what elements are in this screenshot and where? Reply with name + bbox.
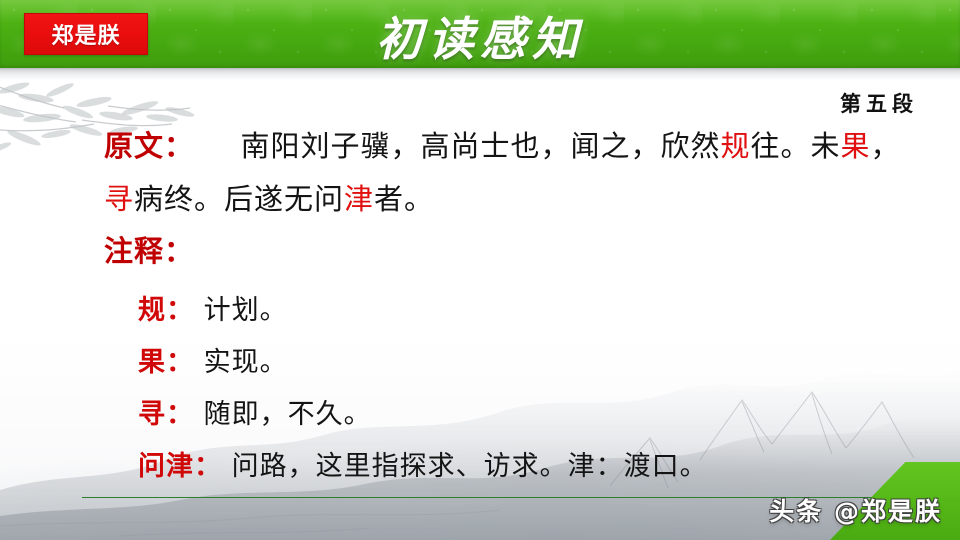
note-item: 寻： 随即，不久。 — [138, 392, 372, 431]
notes-heading: 注释： — [104, 228, 194, 270]
passage-line-2: 寻病终。后遂无问津者。 — [104, 173, 434, 226]
passage-line-1-runs: 南阳刘子骥，高尚士也，闻之，欣然规往。未果， — [240, 129, 900, 163]
passage-label: 原文： — [104, 129, 194, 163]
note-definition: 问路，这里指探求、访求。津：渡口。 — [232, 451, 708, 482]
section-label: 第五段 — [840, 88, 918, 118]
note-definition: 实现。 — [204, 347, 288, 378]
note-term: 果： — [138, 347, 194, 378]
note-item: 果： 实现。 — [138, 340, 288, 379]
highlighted-char: 津 — [344, 182, 374, 216]
note-definition: 计划。 — [204, 295, 288, 326]
note-term: 寻： — [138, 399, 194, 430]
note-item: 规： 计划。 — [138, 288, 288, 327]
note-term: 规： — [138, 295, 194, 326]
passage-text: ， — [871, 129, 901, 163]
highlighted-char: 果 — [841, 129, 871, 163]
header-bevel-strip — [0, 68, 960, 81]
note-definition: 随即，不久。 — [204, 399, 372, 430]
passage-text: 往。未 — [750, 129, 840, 163]
highlighted-char: 寻 — [104, 182, 134, 216]
note-term: 问津： — [138, 451, 222, 482]
passage-line-1: 原文： 南阳刘子骥，高尚士也，闻之，欣然规往。未果， — [104, 120, 901, 173]
passage-text: 病终。后遂无问 — [134, 182, 344, 216]
passage-text: 南阳刘子骥，高尚士也，闻之，欣然 — [240, 129, 720, 163]
passage-line-2-runs: 寻病终。后遂无问津者。 — [104, 182, 434, 216]
note-item: 问津： 问路，这里指探求、访求。津：渡口。 — [138, 444, 708, 483]
watermark: 头条 @郑是朕 — [769, 492, 942, 528]
slide-canvas: 郑是朕 初读感知 第五段 原文： 南阳刘子骥，高尚士也，闻之，欣然规往。未果， … — [0, 0, 960, 540]
bottom-divider — [82, 497, 872, 498]
passage-text: 者。 — [374, 182, 434, 216]
page-title: 初读感知 — [0, 3, 960, 69]
highlighted-char: 规 — [720, 129, 750, 163]
